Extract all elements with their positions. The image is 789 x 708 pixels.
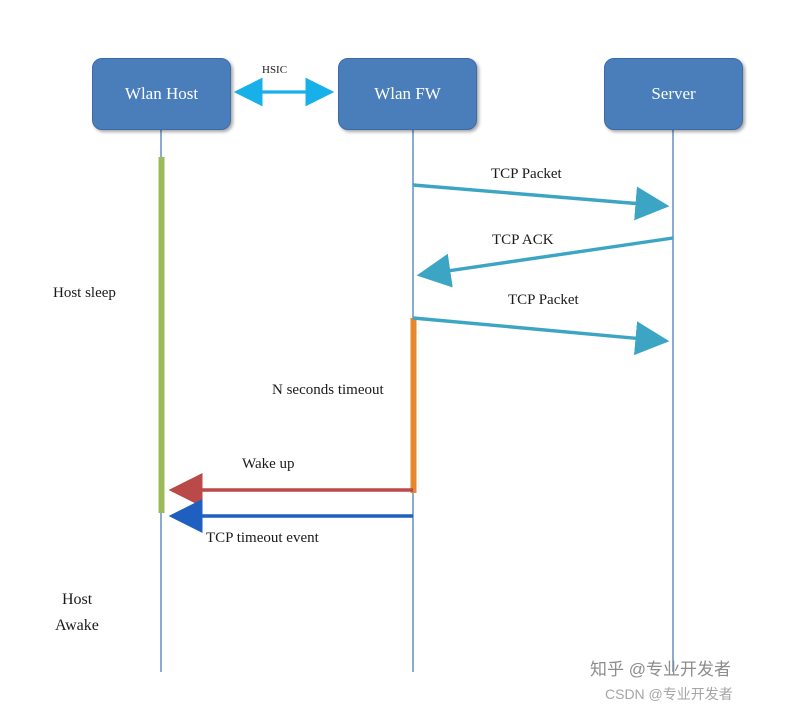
node-server[interactable]: Server <box>604 58 743 130</box>
node-wlan-host[interactable]: Wlan Host <box>92 58 231 130</box>
msg-arrow-tcp-packet-1 <box>413 185 666 206</box>
state-label-host-awake-line1: Host <box>62 591 92 609</box>
node-wlan-host-label: Wlan Host <box>125 84 198 104</box>
node-wlan-fw[interactable]: Wlan FW <box>338 58 477 130</box>
message-label-tcp-ack: TCP ACK <box>492 232 554 249</box>
diagram-canvas: Wlan Host Wlan FW Server HSIC TCP Packet… <box>0 0 789 708</box>
state-label-host-sleep: Host sleep <box>53 285 116 302</box>
node-wlan-fw-label: Wlan FW <box>374 84 441 104</box>
message-label-n-seconds-timeout: N seconds timeout <box>272 382 384 399</box>
message-label-tcp-packet-2: TCP Packet <box>508 292 579 309</box>
node-server-label: Server <box>651 84 695 104</box>
message-label-wake-up: Wake up <box>242 456 295 473</box>
hsic-label: HSIC <box>262 64 287 76</box>
watermark-csdn: CSDN @专业开发者 <box>605 684 733 704</box>
message-label-tcp-timeout-event: TCP timeout event <box>206 530 319 547</box>
msg-arrow-tcp-packet-2 <box>413 318 666 341</box>
message-label-tcp-packet-1: TCP Packet <box>491 166 562 183</box>
watermark-zhihu: 知乎 @专业开发者 <box>590 655 731 680</box>
state-label-host-awake-line2: Awake <box>55 617 99 635</box>
